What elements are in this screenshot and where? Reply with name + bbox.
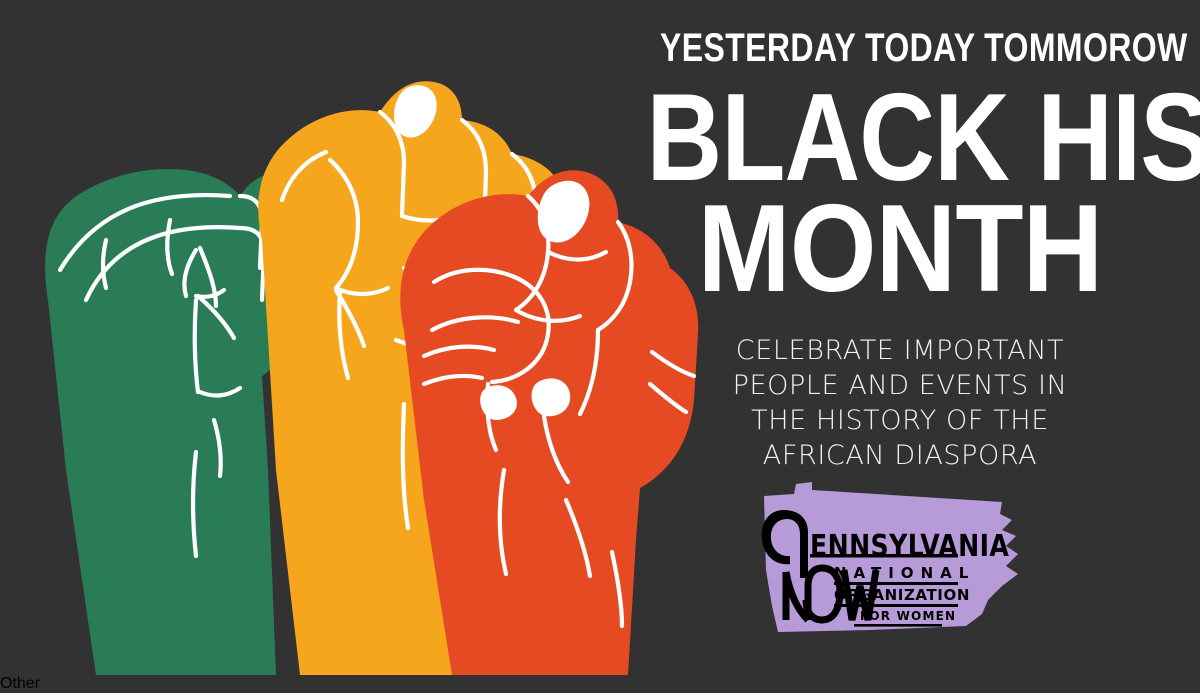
subcopy-line-2: PEOPLE AND EVENTS IN: [600, 368, 1200, 403]
fists-artwork: [0, 0, 700, 675]
logo-line-organization: ORGANIZATION: [834, 586, 970, 604]
page-title: BLACK HISTORY MONTH: [600, 84, 1200, 304]
headline-line-2: MONTH: [630, 195, 1170, 304]
pennsylvania-now-logo: ENNSYLVANIA NATIONAL ORGANIZATION: [750, 474, 1025, 636]
subcopy-block: CELEBRATE IMPORTANT PEOPLE AND EVENTS IN…: [600, 333, 1200, 473]
logo-line-for-women: FOR WOMEN: [860, 609, 956, 623]
text-panel: YESTERDAY TODAY TOMMOROW BLACK HISTORY M…: [600, 0, 1200, 675]
subcopy-line-3: THE HISTORY OF THE: [600, 403, 1200, 438]
headline-line-1: BLACK HISTORY: [647, 84, 1154, 193]
poster-canvas: YESTERDAY TODAY TOMMOROW BLACK HISTORY M…: [0, 0, 1200, 675]
logo-line-national: NATIONAL: [834, 564, 975, 582]
subcopy-line-1: CELEBRATE IMPORTANT: [600, 333, 1200, 368]
eyebrow-text: YESTERDAY TODAY TOMMOROW: [660, 28, 1140, 68]
subcopy-line-4: AFRICAN DIASPORA: [600, 438, 1200, 473]
svg-text:ENNSYLVANIA: ENNSYLVANIA: [810, 528, 1010, 563]
